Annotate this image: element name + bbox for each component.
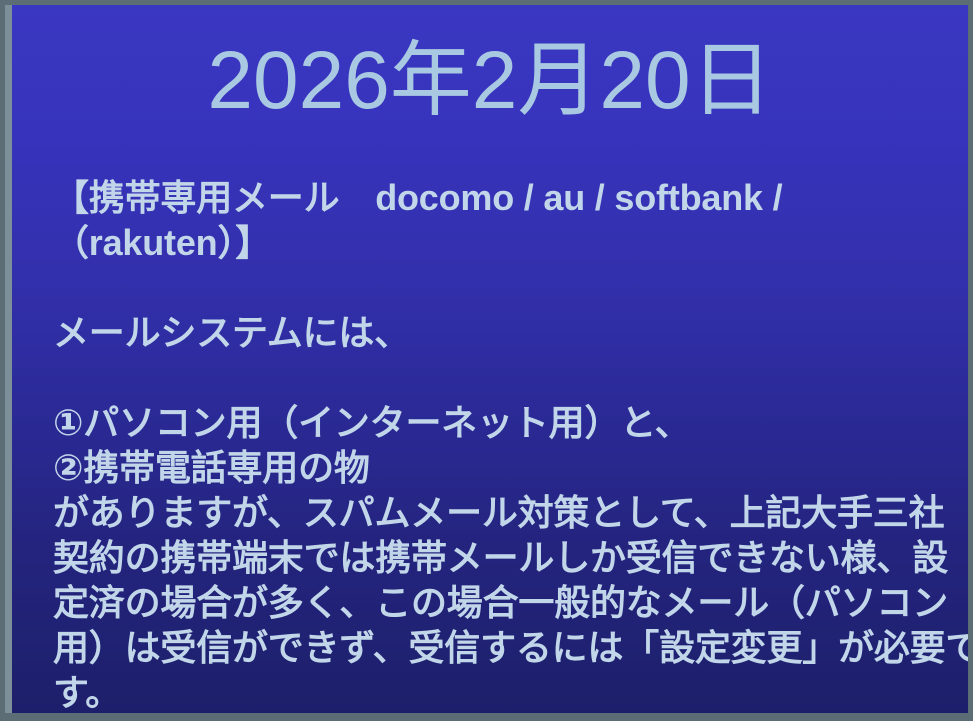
body-line: 用）は受信ができず、受信するには「設定変更」が必要で [53, 625, 953, 670]
body-line-spacer [53, 355, 953, 400]
body-line: 定済の場合が多く、この場合一般的なメール（パソコン [53, 580, 953, 625]
body-line: がありますが、スパムメール対策として、上記大手三社 [53, 490, 953, 535]
slide-frame: 2026年2月20日 【携帯専用メール docomo / au / softba… [0, 0, 973, 721]
slide-canvas: 2026年2月20日 【携帯専用メール docomo / au / softba… [12, 5, 968, 713]
body-line: 【携帯専用メール docomo / au / softbank / [53, 175, 953, 220]
slide-frame-bevel: 2026年2月20日 【携帯専用メール docomo / au / softba… [5, 5, 968, 713]
body-line: （rakuten）】 [53, 220, 953, 265]
body-line: ②携帯電話専用の物 [53, 445, 953, 490]
slide-title: 2026年2月20日 [12, 37, 968, 126]
body-line-spacer [53, 265, 953, 310]
body-line: 契約の携帯端末では携帯メールしか受信できない様、設 [53, 535, 953, 580]
body-line: メールシステムには、 [53, 310, 953, 355]
body-line: ①パソコン用（インターネット用）と、 [53, 400, 953, 445]
slide-body-text: 【携帯専用メール docomo / au / softbank / （rakut… [53, 175, 953, 713]
body-line: す。 [53, 670, 953, 713]
